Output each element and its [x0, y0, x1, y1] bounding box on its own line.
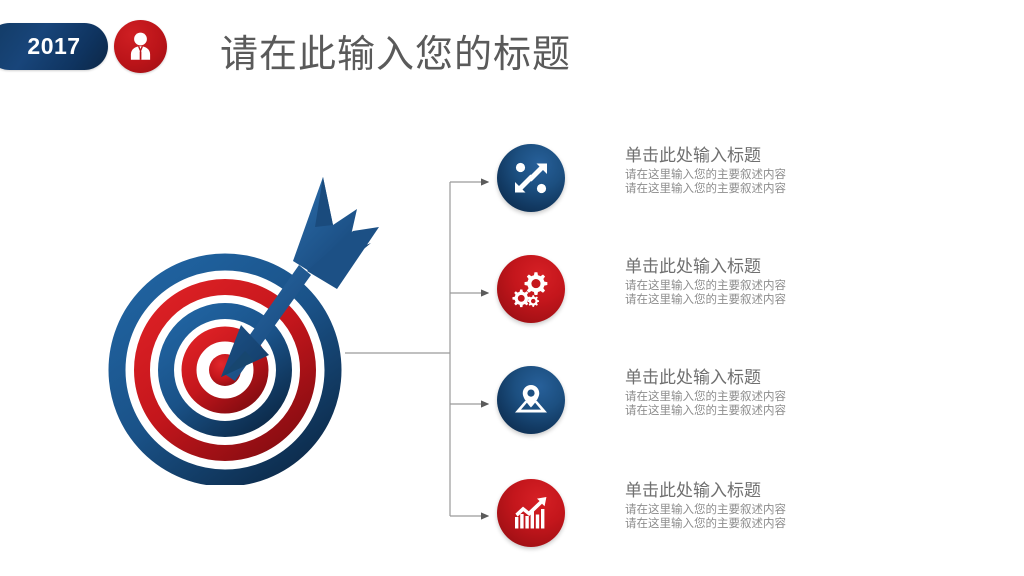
list-item[interactable]: 单击此处输入标题 请在这里输入您的主要叙述内容 请在这里输入您的主要叙述内容 [497, 366, 927, 446]
list-item[interactable]: 单击此处输入标题 请在这里输入您的主要叙述内容 请在这里输入您的主要叙述内容 [497, 255, 927, 335]
item-title: 单击此处输入标题 [625, 481, 925, 502]
item-desc-line-1: 请在这里输入您的主要叙述内容 [625, 278, 925, 292]
item-desc-line-1: 请在这里输入您的主要叙述内容 [625, 502, 925, 516]
item-desc-line-2: 请在这里输入您的主要叙述内容 [625, 181, 925, 195]
list-item[interactable]: 单击此处输入标题 请在这里输入您的主要叙述内容 请在这里输入您的主要叙述内容 [497, 479, 927, 559]
page-title: 请在此输入您的标题 [220, 23, 571, 78]
slide-header: 2017 请在此输入您的标题 [0, 0, 1024, 100]
item-title: 单击此处输入标题 [625, 257, 925, 278]
item-title: 单击此处输入标题 [625, 368, 925, 389]
item-text-block: 单击此处输入标题 请在这里输入您的主要叙述内容 请在这里输入您的主要叙述内容 [625, 368, 925, 417]
list-item[interactable]: 单击此处输入标题 请在这里输入您的主要叙述内容 请在这里输入您的主要叙述内容 [497, 144, 927, 224]
item-text-block: 单击此处输入标题 请在这里输入您的主要叙述内容 请在这里输入您的主要叙述内容 [625, 146, 925, 195]
item-desc-line-2: 请在这里输入您的主要叙述内容 [625, 516, 925, 530]
item-icon-circle[interactable] [497, 255, 565, 323]
item-desc-line-1: 请在这里输入您的主要叙述内容 [625, 389, 925, 403]
target-dart-graphic [95, 165, 385, 485]
item-icon-circle[interactable] [497, 479, 565, 547]
item-title: 单击此处输入标题 [625, 146, 925, 167]
item-desc-line-1: 请在这里输入您的主要叙述内容 [625, 167, 925, 181]
person-icon-badge[interactable] [114, 20, 167, 73]
item-desc-line-2: 请在这里输入您的主要叙述内容 [625, 292, 925, 306]
item-icon-circle[interactable] [497, 366, 565, 434]
year-badge[interactable]: 2017 [0, 23, 108, 70]
item-text-block: 单击此处输入标题 请在这里输入您的主要叙述内容 请在这里输入您的主要叙述内容 [625, 257, 925, 306]
item-text-block: 单击此处输入标题 请在这里输入您的主要叙述内容 请在这里输入您的主要叙述内容 [625, 481, 925, 530]
item-desc-line-2: 请在这里输入您的主要叙述内容 [625, 403, 925, 417]
year-badge-label: 2017 [0, 23, 108, 70]
item-icon-circle[interactable] [497, 144, 565, 212]
